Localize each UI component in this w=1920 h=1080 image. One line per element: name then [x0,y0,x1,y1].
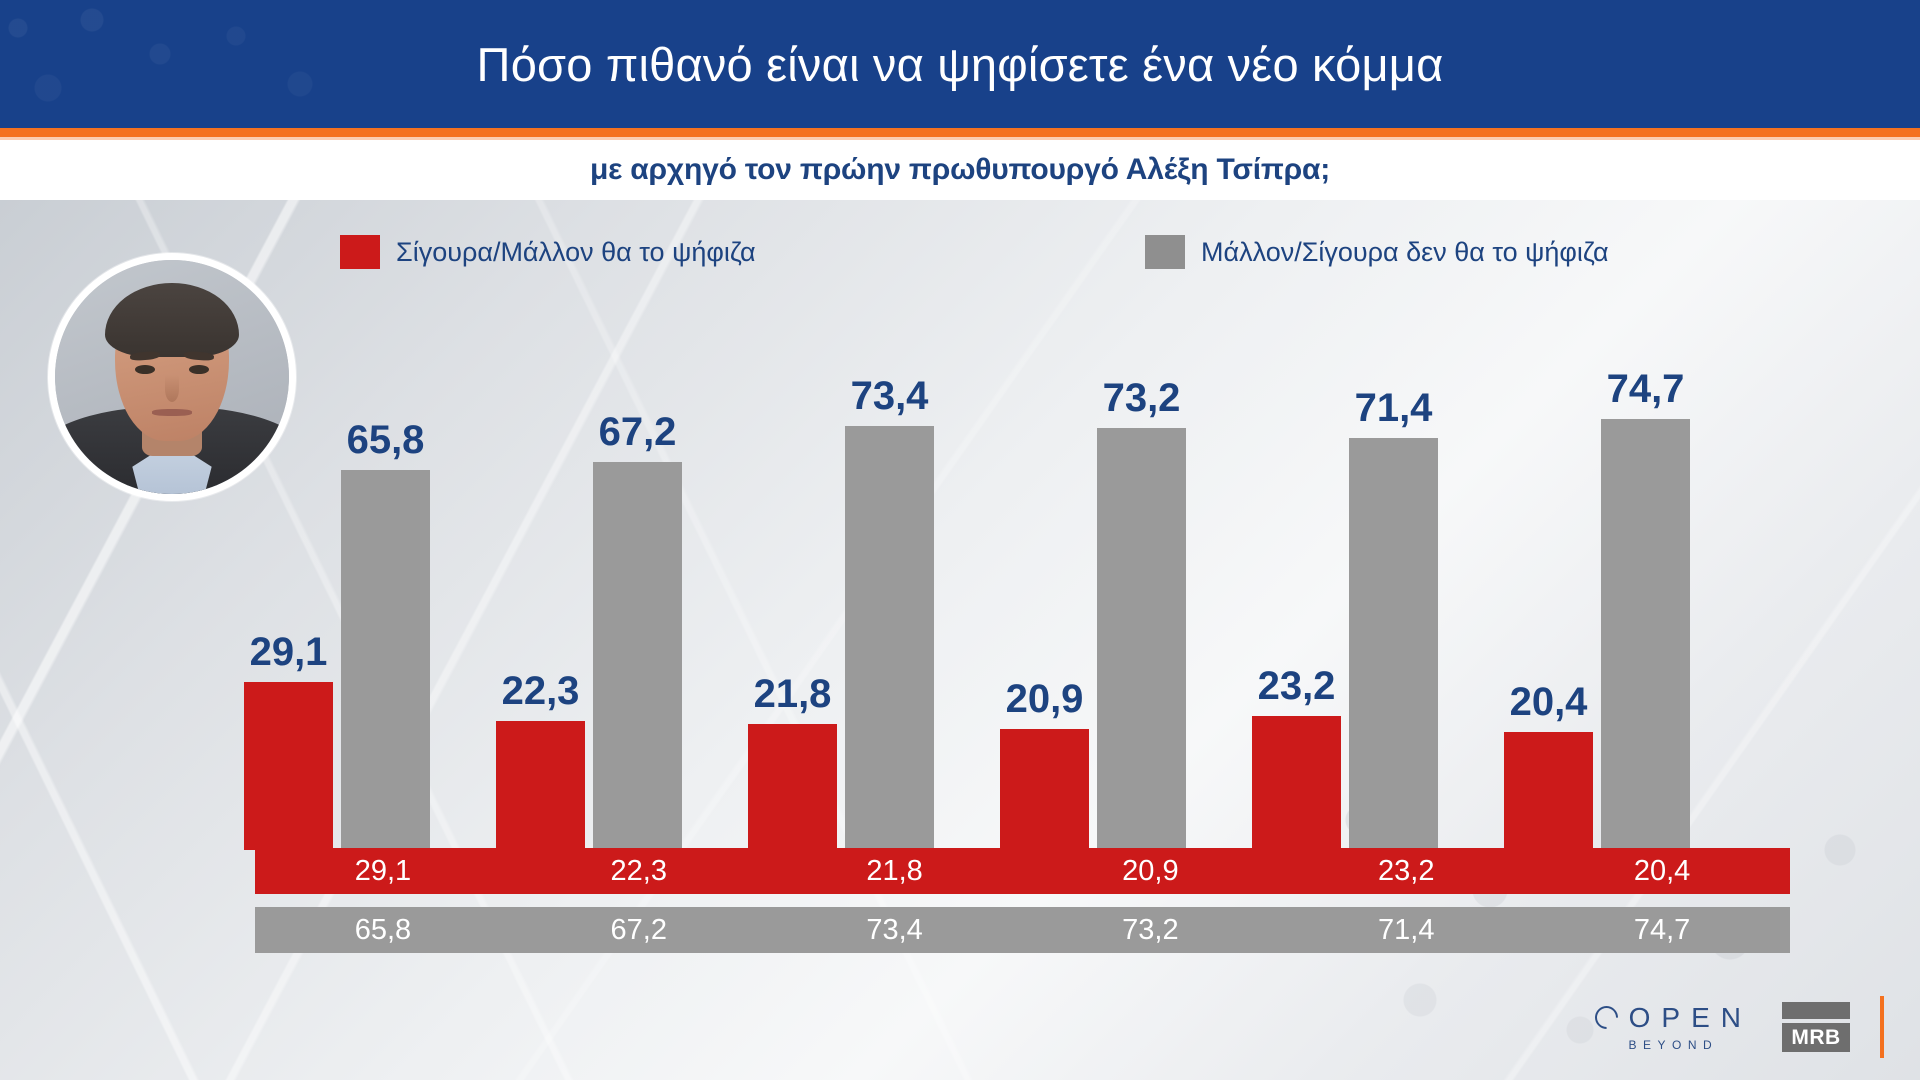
header-banner: Πόσο πιθανό είναι να ψηφίσετε ένα νέο κό… [0,0,1920,128]
bar-value-would-vote: 22,3 [502,671,580,711]
bar-would-not-vote [1601,419,1690,850]
table-cell: 20,9 [1022,855,1278,888]
open-o-icon [1590,1001,1623,1034]
mrb-logo: MRB [1782,1002,1850,1052]
bar-value-would-not-vote: 74,7 [1607,369,1685,409]
bar-would-not-vote [1349,438,1438,850]
footer-accent-rule [1880,996,1884,1058]
table-cell: 21,8 [767,855,1023,888]
bar-value-would-vote: 29,1 [250,632,328,672]
open-wordmark-text: OPEN [1629,1004,1752,1032]
open-wordmark: OPEN [1595,1004,1752,1032]
table-row-would-not-vote: 65,867,273,473,271,474,7 [255,907,1790,953]
table-cell: 73,2 [1022,914,1278,947]
bar-would-vote [496,721,585,850]
bar-would-vote [244,682,333,850]
subtitle-band: με αρχηγό τον πρώην πρωθυπουργό Αλέξη Τσ… [0,140,1920,200]
table-cell: 71,4 [1278,914,1534,947]
page-subtitle: με αρχηγό τον πρώην πρωθυπουργό Αλέξη Τσ… [590,153,1330,187]
page-title: Πόσο πιθανό είναι να ψηφίσετε ένα νέο κό… [477,37,1444,92]
table-cell: 73,4 [767,914,1023,947]
bar-value-would-not-vote: 67,2 [599,412,677,452]
bar-value-would-vote: 20,9 [1006,679,1084,719]
table-cell: 65,8 [255,914,511,947]
bar-would-vote [1504,732,1593,850]
open-beyond-logo: OPEN BEYOND [1595,1004,1752,1051]
bar-value-would-vote: 23,2 [1258,666,1336,706]
mrb-logo-bar-icon [1782,1002,1850,1019]
data-table: 29,122,321,820,923,220,4 65,867,273,473,… [255,848,1790,953]
bar-value-would-not-vote: 71,4 [1355,388,1433,428]
bar-value-would-vote: 20,4 [1510,682,1588,722]
mrb-wordmark: MRB [1782,1023,1850,1052]
legend-swatch-gray-icon [1145,235,1185,269]
header-accent-rule [0,128,1920,137]
bar-would-vote [748,724,837,850]
bar-value-would-not-vote: 73,4 [851,376,929,416]
footer-logos: OPEN BEYOND MRB [1595,996,1884,1058]
table-row-would-vote: 29,122,321,820,923,220,4 [255,848,1790,894]
portrait-photo [48,253,296,501]
table-cell: 22,3 [511,855,767,888]
avatar [48,253,296,501]
table-cell: 74,7 [1534,914,1790,947]
bar-value-would-vote: 21,8 [754,674,832,714]
bar-would-not-vote [1097,428,1186,850]
table-cell: 23,2 [1278,855,1534,888]
bar-would-not-vote [845,426,934,850]
legend-label-would-vote: Σίγουρα/Μάλλον θα το ψήφιζα [396,237,756,268]
legend-item-would-not-vote: Μάλλον/Σίγουρα δεν θα το ψήφιζα [1145,235,1609,269]
legend-label-would-not-vote: Μάλλον/Σίγουρα δεν θα το ψήφιζα [1201,237,1609,268]
table-cell: 29,1 [255,855,511,888]
bar-value-would-not-vote: 65,8 [347,420,425,460]
bar-would-not-vote [341,470,430,850]
legend-item-would-vote: Σίγουρα/Μάλλον θα το ψήφιζα [340,235,756,269]
bar-value-would-not-vote: 73,2 [1103,378,1181,418]
bar-would-not-vote [593,462,682,850]
table-cell: 20,4 [1534,855,1790,888]
bar-would-vote [1000,729,1089,850]
bar-would-vote [1252,716,1341,850]
table-cell: 67,2 [511,914,767,947]
open-beyond-tagline: BEYOND [1628,1039,1718,1051]
legend-swatch-red-icon [340,235,380,269]
